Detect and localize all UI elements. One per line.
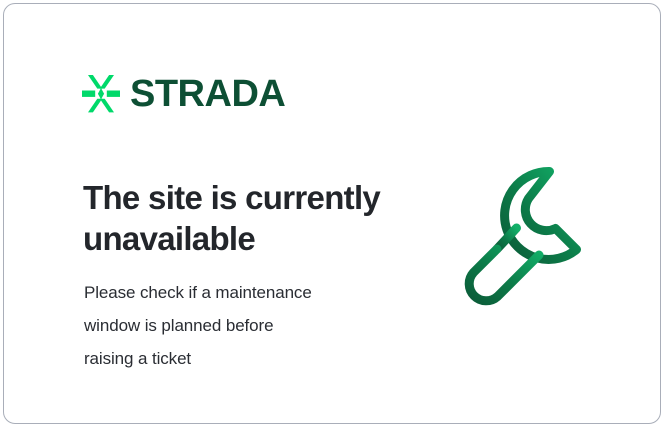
brand-wordmark: STRADA — [130, 75, 285, 113]
status-card: STRADA The site is currently unavailable… — [3, 3, 661, 424]
page-title: The site is currently unavailable — [83, 178, 423, 260]
brand-logo: STRADA — [82, 74, 285, 114]
description-line: window is planned before — [84, 309, 394, 342]
description-line: raising a ticket — [84, 342, 394, 375]
page-description: Please check if a maintenance window is … — [84, 276, 394, 375]
strada-asterisk-icon — [82, 74, 120, 114]
error-page: STRADA The site is currently unavailable… — [0, 0, 666, 436]
description-line: Please check if a maintenance — [84, 276, 394, 309]
